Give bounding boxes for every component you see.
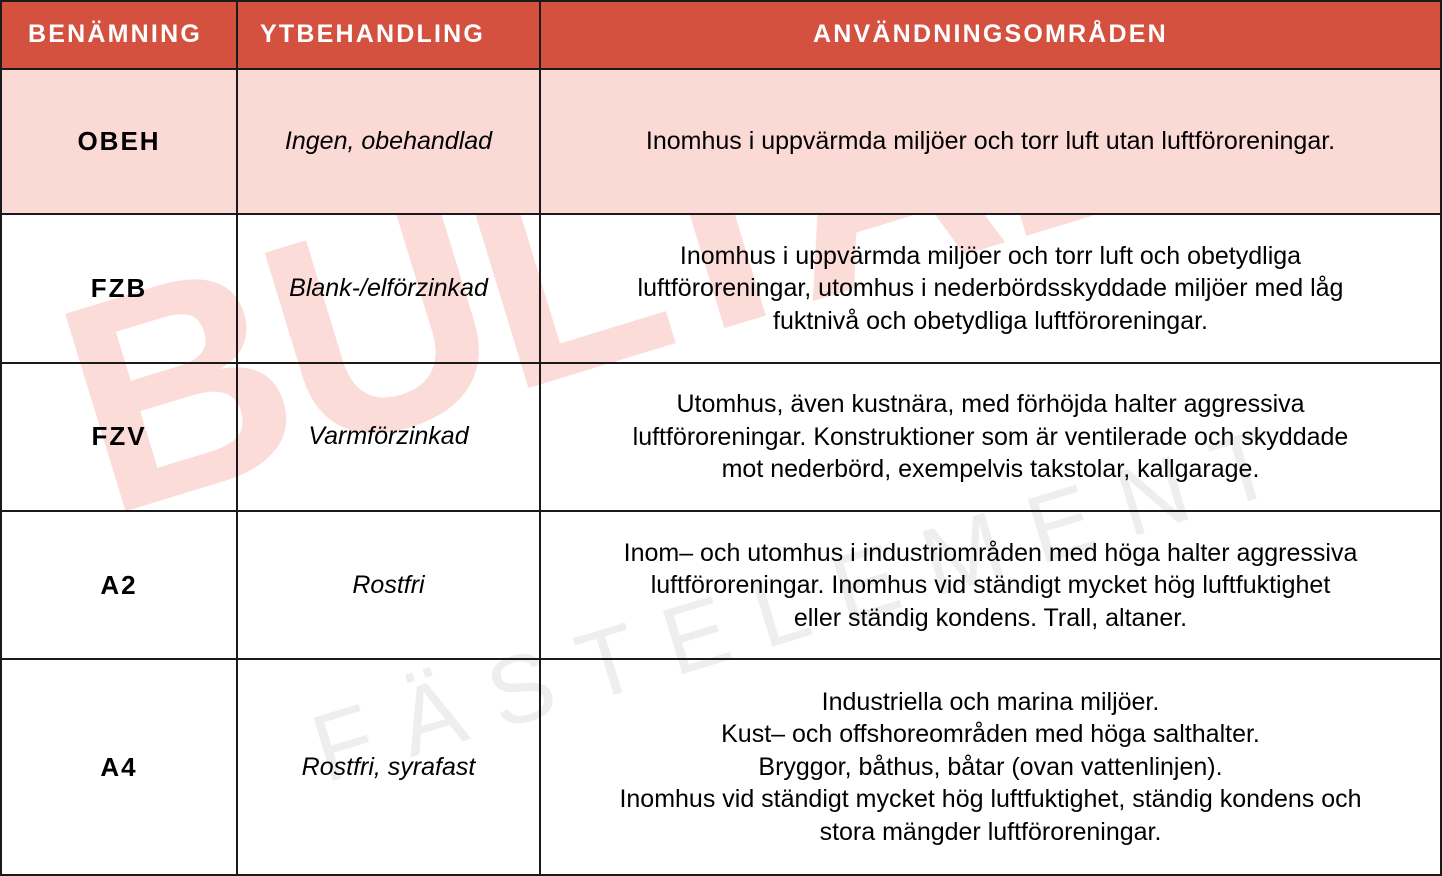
column-header-anvandningsomraden: ANVÄNDNINGSOMRÅDEN: [540, 1, 1441, 69]
cell-code: FZB: [1, 214, 237, 362]
usage-text-line: Inomhus i uppvärmda miljöer och torr luf…: [557, 125, 1424, 158]
cell-code: OBEH: [1, 69, 237, 214]
usage-text-line: stora mängder luftföroreningar.: [557, 816, 1424, 849]
cell-usage: Industriella och marina miljöer.Kust– oc…: [540, 659, 1441, 875]
table-row: A2 Rostfri Inom– och utomhus i industrio…: [1, 511, 1441, 659]
cell-usage: Inomhus i uppvärmda miljöer och torr luf…: [540, 69, 1441, 214]
column-header-ytbehandling: YTBEHANDLING: [237, 1, 540, 69]
cell-treatment: Varmförzinkad: [237, 363, 540, 511]
table-row: FZB Blank-/elförzinkad Inomhus i uppvärm…: [1, 214, 1441, 362]
cell-code: A4: [1, 659, 237, 875]
table-body: OBEH Ingen, obehandlad Inomhus i uppvärm…: [1, 69, 1441, 875]
usage-text-line: luftföroreningar. Inomhus vid ständigt m…: [557, 569, 1424, 602]
usage-text-line: Inomhus i uppvärmda miljöer och torr luf…: [557, 240, 1424, 273]
column-header-benamning: BENÄMNING: [1, 1, 237, 69]
surface-treatment-table-container: BENÄMNING YTBEHANDLING ANVÄNDNINGSOMRÅDE…: [0, 0, 1442, 876]
cell-treatment: Ingen, obehandlad: [237, 69, 540, 214]
cell-code: A2: [1, 511, 237, 659]
cell-usage: Inom– och utomhus i industriområden med …: [540, 511, 1441, 659]
usage-text-line: luftföroreningar. Konstruktioner som är …: [557, 421, 1424, 454]
table-row: FZV Varmförzinkad Utomhus, även kustnära…: [1, 363, 1441, 511]
usage-text-line: Bryggor, båthus, båtar (ovan vattenlinje…: [557, 751, 1424, 784]
usage-text-line: Inomhus vid ständigt mycket hög luftfukt…: [557, 783, 1424, 816]
usage-text-line: Industriella och marina miljöer.: [557, 686, 1424, 719]
usage-text-line: eller ständig kondens. Trall, altaner.: [557, 602, 1424, 635]
table-row: A4 Rostfri, syrafast Industriella och ma…: [1, 659, 1441, 875]
cell-code: FZV: [1, 363, 237, 511]
cell-usage: Inomhus i uppvärmda miljöer och torr luf…: [540, 214, 1441, 362]
page-root: BULTAB FÄSTELEMENT BENÄMNING YTBEHANDLIN…: [0, 0, 1442, 876]
usage-text-line: luftföroreningar, utomhus i nederbördssk…: [557, 272, 1424, 305]
usage-text-line: mot nederbörd, exempelvis takstolar, kal…: [557, 453, 1424, 486]
cell-treatment: Rostfri: [237, 511, 540, 659]
cell-usage: Utomhus, även kustnära, med förhöjda hal…: [540, 363, 1441, 511]
cell-treatment: Blank-/elförzinkad: [237, 214, 540, 362]
surface-treatment-table: BENÄMNING YTBEHANDLING ANVÄNDNINGSOMRÅDE…: [0, 0, 1442, 876]
table-header: BENÄMNING YTBEHANDLING ANVÄNDNINGSOMRÅDE…: [1, 1, 1441, 69]
usage-text-line: Utomhus, även kustnära, med förhöjda hal…: [557, 388, 1424, 421]
table-row: OBEH Ingen, obehandlad Inomhus i uppvärm…: [1, 69, 1441, 214]
table-header-row: BENÄMNING YTBEHANDLING ANVÄNDNINGSOMRÅDE…: [1, 1, 1441, 69]
usage-text-line: Inom– och utomhus i industriområden med …: [557, 537, 1424, 570]
usage-text-line: Kust– och offshoreområden med höga salth…: [557, 718, 1424, 751]
usage-text-line: fuktnivå och obetydliga luftföroreningar…: [557, 305, 1424, 338]
cell-treatment: Rostfri, syrafast: [237, 659, 540, 875]
